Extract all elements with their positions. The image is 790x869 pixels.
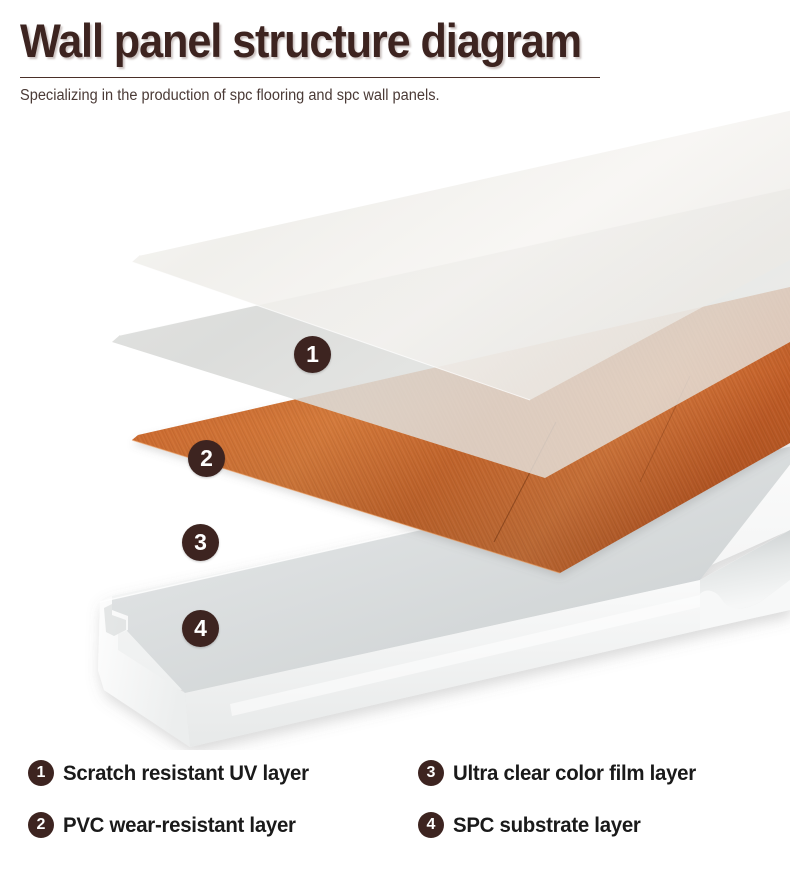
legend-badge-2: 2 [28,812,54,838]
legend-badge-1: 1 [28,760,54,786]
wall-panel-exploded-diagram: 1 2 3 4 [0,110,790,750]
legend: 1 Scratch resistant UV layer 2 PVC wear-… [0,750,790,869]
legend-item-uv-layer[interactable]: 1 Scratch resistant UV layer [28,760,322,786]
title-divider [20,77,600,78]
legend-label-1: Scratch resistant UV layer [63,761,309,786]
diagram-badge-2[interactable]: 2 [188,440,225,477]
legend-badge-4: 4 [418,812,444,838]
page-title: Wall panel structure diagram [20,13,581,69]
legend-label-2: PVC wear-resistant layer [63,813,296,838]
legend-item-spc-substrate[interactable]: 4 SPC substrate layer [418,812,650,838]
exploded-layers-svg [0,110,790,750]
legend-label-3: Ultra clear color film layer [453,761,696,786]
legend-item-pvc-layer[interactable]: 2 PVC wear-resistant layer [28,812,308,838]
page-subtitle: Specializing in the production of spc fl… [20,84,440,108]
wall-panel-structure-page: Wall panel structure diagram Specializin… [0,0,790,869]
diagram-badge-3[interactable]: 3 [182,524,219,561]
diagram-badge-4[interactable]: 4 [182,610,219,647]
legend-badge-3: 3 [418,760,444,786]
legend-label-4: SPC substrate layer [453,813,641,838]
legend-item-color-film-layer[interactable]: 3 Ultra clear color film layer [418,760,709,786]
diagram-badge-1[interactable]: 1 [294,336,331,373]
